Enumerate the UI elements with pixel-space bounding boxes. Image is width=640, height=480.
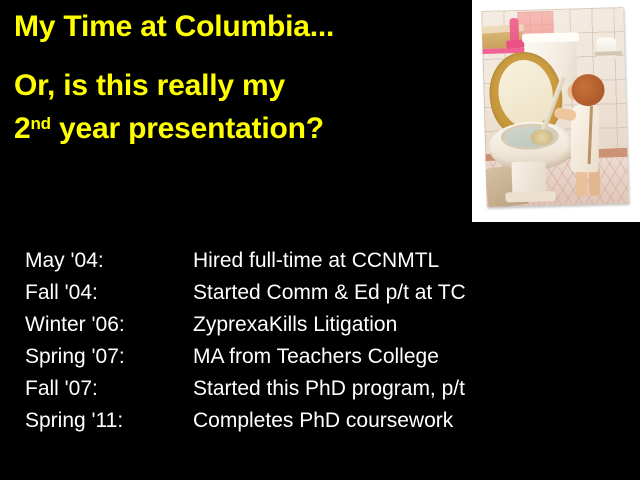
timeline-period: Fall '07: bbox=[0, 377, 193, 401]
table-row: Fall '07: Started this PhD program, p/t bbox=[0, 373, 640, 405]
timeline-event: ZyprexaKills Litigation bbox=[193, 313, 397, 337]
photo-color-cast bbox=[481, 7, 628, 207]
table-row: May '04: Hired full-time at CCNMTL bbox=[0, 245, 640, 277]
title-line-1: My Time at Columbia... bbox=[14, 8, 464, 46]
timeline-event: Hired full-time at CCNMTL bbox=[193, 249, 439, 273]
timeline-event: MA from Teachers College bbox=[193, 345, 439, 369]
timeline-period: Fall '04: bbox=[0, 281, 193, 305]
timeline-event: Completes PhD coursework bbox=[193, 409, 453, 433]
table-row: Fall '04: Started Comm & Ed p/t at TC bbox=[0, 277, 640, 309]
photo-panel bbox=[472, 0, 640, 222]
table-row: Spring '07: MA from Teachers College bbox=[0, 341, 640, 373]
toddler-toilet-photo bbox=[481, 7, 628, 207]
title-line-3-prefix: 2 bbox=[14, 112, 31, 145]
slide-title-block: My Time at Columbia... Or, is this reall… bbox=[14, 8, 464, 148]
title-line-3: 2nd year presentation? bbox=[14, 105, 464, 148]
title-line-3-suffix: year presentation? bbox=[51, 112, 324, 145]
title-line-2: Or, is this really my bbox=[14, 67, 464, 105]
presentation-slide: My Time at Columbia... Or, is this reall… bbox=[0, 0, 640, 480]
timeline-period: Spring '07: bbox=[0, 345, 193, 369]
table-row: Spring '11: Completes PhD coursework bbox=[0, 405, 640, 437]
timeline-event: Started this PhD program, p/t bbox=[193, 377, 465, 401]
timeline-list: May '04: Hired full-time at CCNMTL Fall … bbox=[0, 245, 640, 437]
timeline-period: Spring '11: bbox=[0, 409, 193, 433]
timeline-event: Started Comm & Ed p/t at TC bbox=[193, 281, 466, 305]
timeline-period: May '04: bbox=[0, 249, 193, 273]
title-line-3-superscript: nd bbox=[31, 114, 51, 133]
timeline-period: Winter '06: bbox=[0, 313, 193, 337]
table-row: Winter '06: ZyprexaKills Litigation bbox=[0, 309, 640, 341]
